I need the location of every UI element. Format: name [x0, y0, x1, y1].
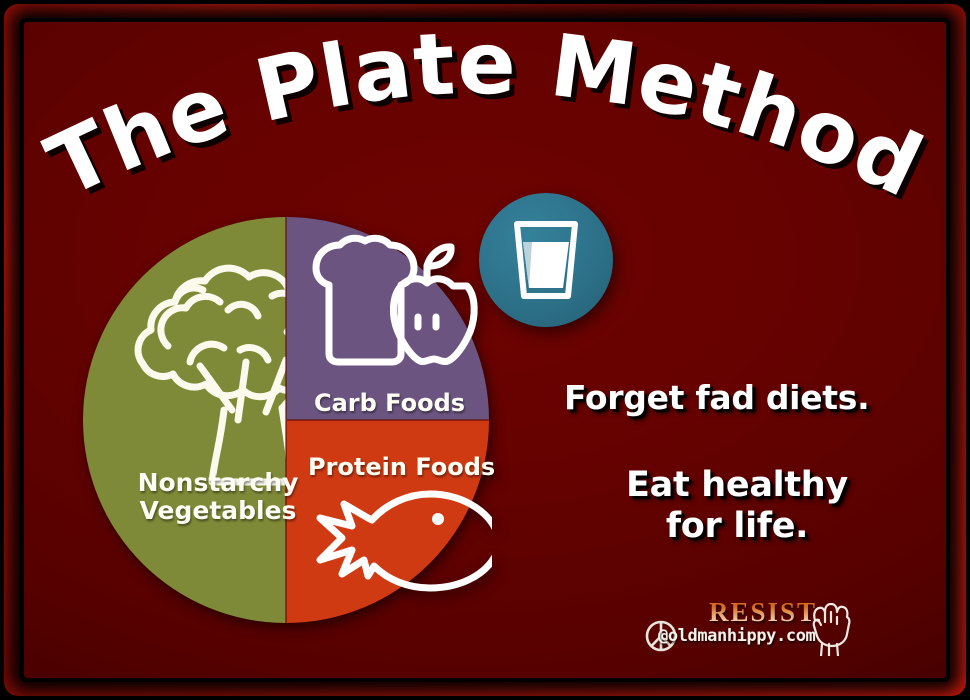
poster-root: The Plate Method The Plate Method: [0, 0, 970, 700]
raised-fist-icon: [804, 600, 852, 656]
slogan-primary: Forget fad diets.: [564, 379, 869, 418]
plate-segment-carbs: [286, 217, 489, 420]
plate-diagram: Nonstarchy Vegetables Carb Foods Protein…: [80, 214, 492, 626]
water-badge: [479, 193, 613, 327]
brand-logo[interactable]: RESIST @oldmanhippy.com: [622, 597, 852, 667]
page-title-text: The Plate Method: [33, 28, 937, 208]
slogan-secondary: Eat healthy for life.: [612, 465, 862, 548]
page-title: The Plate Method The Plate Method: [24, 28, 946, 208]
plate-segment-protein: [286, 420, 492, 623]
poster-canvas: The Plate Method The Plate Method: [24, 22, 946, 678]
logo-domain-text: @oldmanhippy.com: [658, 626, 815, 646]
page-title-shadow: The Plate Method: [38, 28, 942, 208]
water-glass-icon: [512, 219, 580, 301]
